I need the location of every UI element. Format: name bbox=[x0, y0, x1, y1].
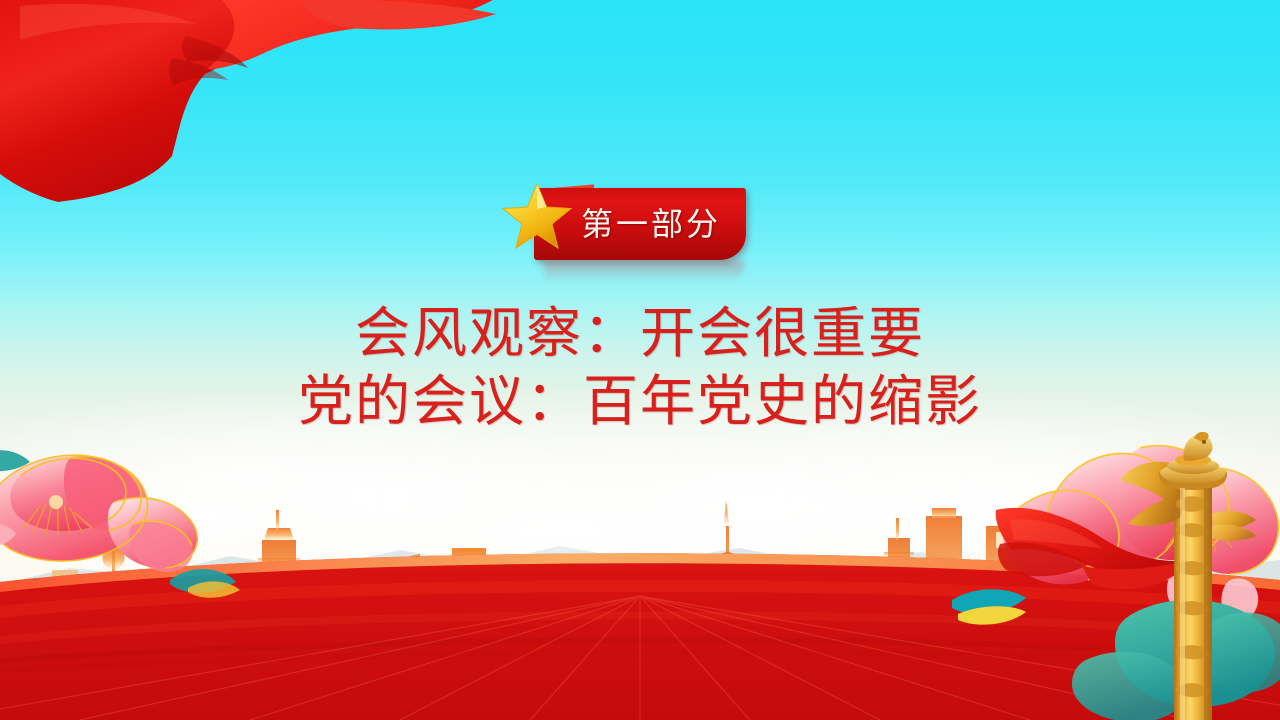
section-banner-label: 第一部分 bbox=[558, 194, 744, 254]
title-line-2: 党的会议：百年党史的缩影 bbox=[0, 368, 1280, 436]
slide-canvas: 第一部分 会风观察：开会很重要 党的会议：百年党史的缩影 bbox=[0, 0, 1280, 720]
banner-reflection bbox=[544, 261, 744, 283]
red-silk-flag-icon bbox=[0, 0, 540, 216]
section-banner[interactable]: 第一部分 bbox=[498, 178, 798, 288]
huabiao-pillar-icon bbox=[1118, 428, 1268, 720]
title-block: 会风观察：开会很重要 党的会议：百年党史的缩影 bbox=[0, 300, 1280, 436]
peony-flower-icon bbox=[0, 432, 304, 632]
title-line-1: 会风观察：开会很重要 bbox=[0, 300, 1280, 368]
